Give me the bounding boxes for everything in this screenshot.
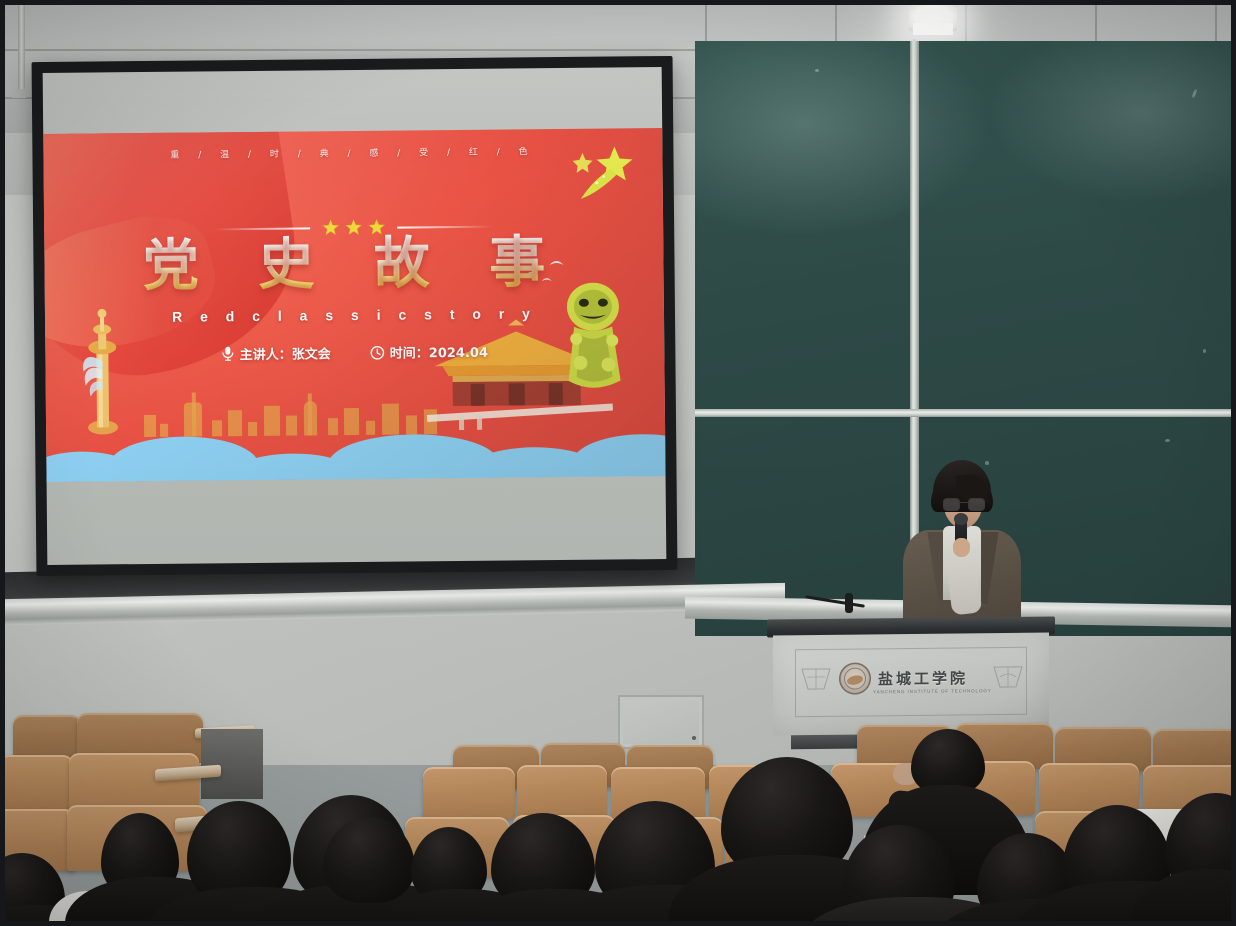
slide-time-item: 时间：2024.04 bbox=[371, 342, 488, 362]
seat-row3 bbox=[69, 753, 199, 811]
vase-ornament-left-icon bbox=[799, 665, 833, 693]
presenter-glasses-icon bbox=[943, 498, 983, 509]
wall-conduit bbox=[18, 5, 25, 97]
conduit-bracket bbox=[11, 89, 27, 98]
ceiling-light-back bbox=[909, 5, 957, 31]
audience-seating bbox=[5, 705, 1236, 926]
podium-university-name-cn: 盐城工学院 bbox=[878, 667, 968, 689]
vase-ornament-right-icon bbox=[991, 663, 1025, 691]
presenter-hand bbox=[953, 538, 970, 557]
aisle-gap bbox=[201, 729, 263, 799]
projection-screen-surface: 重 / 温 / 时 / 典 / 感 / 受 / 红 / 色 党 史 故 事 R … bbox=[43, 67, 667, 565]
slide-title-chinese: 党 史 故 事 bbox=[44, 231, 664, 300]
podium-mic-head bbox=[845, 593, 853, 613]
slide-time-label: 时间：2024.04 bbox=[390, 342, 488, 362]
seat-row3 bbox=[5, 755, 73, 809]
slide-speaker-item: 主讲人：张文会 bbox=[222, 343, 331, 363]
projection-screen: 重 / 温 / 时 / 典 / 感 / 受 / 红 / 色 党 史 故 事 R … bbox=[32, 56, 678, 576]
divider-line-right bbox=[397, 225, 493, 228]
seat-row3 bbox=[517, 765, 607, 817]
university-seal-icon bbox=[839, 662, 871, 694]
clock-icon bbox=[371, 345, 385, 359]
divider-line-left bbox=[214, 227, 310, 230]
seat-row3 bbox=[423, 767, 515, 819]
lecture-hall-photo: 重 / 温 / 时 / 典 / 感 / 受 / 红 / 色 党 史 故 事 R … bbox=[0, 0, 1236, 926]
presenter bbox=[891, 460, 1033, 640]
slide-speaker-label: 主讲人：张文会 bbox=[240, 343, 331, 363]
microphone-icon bbox=[222, 346, 235, 361]
presentation-slide: 重 / 温 / 时 / 典 / 感 / 受 / 红 / 色 党 史 故 事 R … bbox=[43, 128, 665, 482]
presenter-arm bbox=[946, 551, 982, 616]
